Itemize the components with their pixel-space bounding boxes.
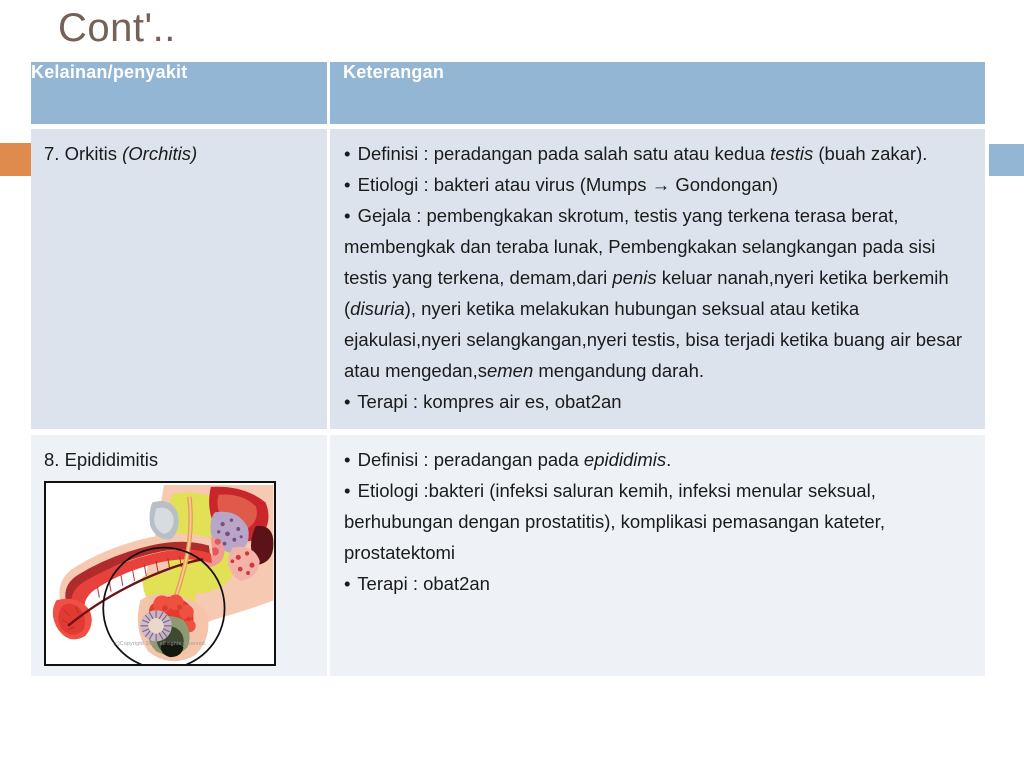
bullet-text: mengandung darah. [533,360,704,381]
bullet-emphasis: testis [770,143,813,164]
row-detail-cell-orkitis: • Definisi : peradangan pada salah satu … [327,129,985,429]
right-accent-bar [989,144,1024,176]
epididymitis-anatomy-illustration: (c)Copyright 2001 all rights reserved. [44,481,276,666]
table-header-row: Kelainan/penyakit Keterangan [31,62,985,124]
bullet-item: • Definisi : peradangan pada salah satu … [344,138,971,169]
table-row: 7. Orkitis (Orchitis) • Definisi : perad… [31,129,985,429]
figure-credit-text: (c)Copyright 2001 all rights reserved. [46,629,274,660]
bullet-item: • Etiologi :bakteri (infeksi saluran kem… [344,475,971,568]
table-row: 8. Epididimitis [31,435,985,676]
row-label-italic: (Orchitis) [122,143,197,164]
content-table: Kelainan/penyakit Keterangan 7. Orkitis … [31,62,985,676]
bullet-text: Terapi : obat2an [352,573,490,594]
bullet-text: Etiologi :bakteri (infeksi saluran kemih… [344,480,885,563]
column-header-kelainan: Kelainan/penyakit [31,62,327,124]
bullet-item: • Terapi : obat2an [344,568,971,599]
bullet-text: Definisi : peradangan pada [352,449,583,470]
bullet-text: Etiologi : bakteri atau virus (Mumps → G… [352,174,778,195]
bullet-text: Definisi : peradangan pada salah satu at… [352,143,770,164]
row-label-text: 7. Orkitis [44,143,122,164]
row-label-cell-epididimitis: 8. Epididimitis [31,435,327,676]
bullet-list-orkitis: • Definisi : peradangan pada salah satu … [344,138,971,417]
bullet-item: • Etiologi : bakteri atau virus (Mumps →… [344,169,971,200]
row-label-text: 8. Epididimitis [44,449,158,470]
page-title: Cont'.. [58,2,176,54]
bullet-list-epididimitis: • Definisi : peradangan pada epididimis.… [344,444,971,599]
table-body: 7. Orkitis (Orchitis) • Definisi : perad… [31,124,985,676]
row-detail-cell-epididimitis: • Definisi : peradangan pada epididimis.… [327,435,985,676]
bullet-emphasis: epididimis [584,449,666,470]
left-accent-bar [0,143,32,176]
bullet-text: (buah zakar). [813,143,927,164]
bullet-item: • Gejala : pembengkakan skrotum, testis … [344,200,971,386]
bullet-emphasis: disuria [350,298,405,319]
bullet-text: Terapi : kompres air es, obat2an [352,391,621,412]
column-header-keterangan: Keterangan [327,62,985,124]
bullet-emphasis: emen [487,360,533,381]
row-label-cell-orkitis: 7. Orkitis (Orchitis) [31,129,327,429]
bullet-item: • Definisi : peradangan pada epididimis. [344,444,971,475]
bullet-emphasis: penis [612,267,656,288]
bullet-item: • Terapi : kompres air es, obat2an [344,386,971,417]
bullet-text: . [666,449,671,470]
